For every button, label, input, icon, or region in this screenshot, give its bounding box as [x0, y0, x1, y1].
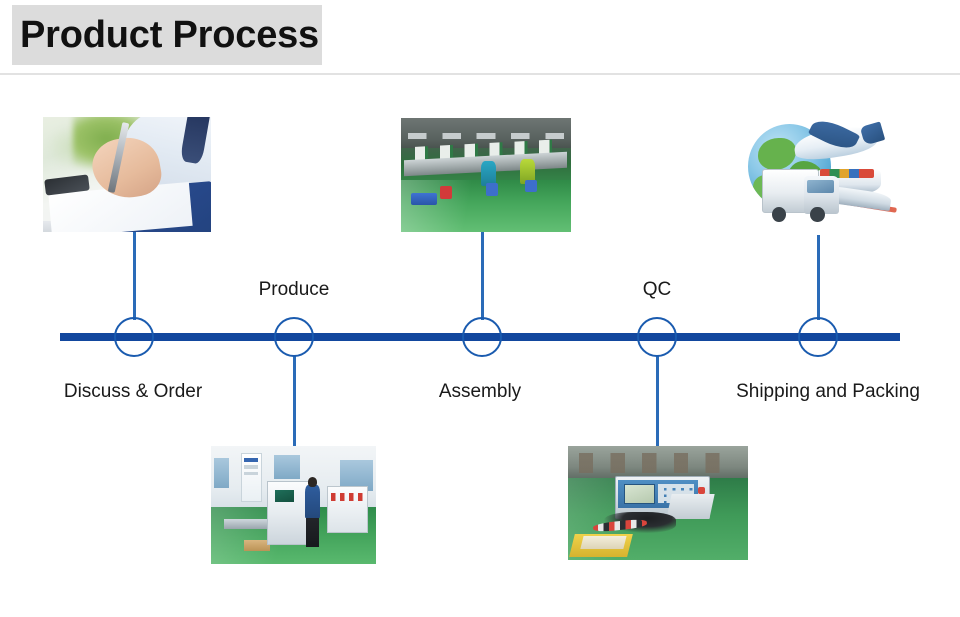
node-produce[interactable]	[274, 317, 314, 357]
photo-shipping-and-packing	[740, 117, 900, 235]
label-assembly: Assembly	[439, 380, 521, 404]
node-assembly[interactable]	[462, 317, 502, 357]
connector-qc	[656, 356, 659, 448]
photo-discuss-order-scene	[43, 117, 211, 232]
label-produce: Produce	[259, 278, 330, 302]
node-discuss-order[interactable]	[114, 317, 154, 357]
photo-discuss-order	[43, 117, 211, 232]
label-discuss-order: Discuss & Order	[64, 380, 202, 404]
photo-assembly	[401, 118, 571, 232]
photo-qc-scene	[568, 446, 748, 560]
node-qc[interactable]	[637, 317, 677, 357]
label-qc: QC	[643, 278, 672, 302]
product-process-timeline: Discuss & Order Produce	[0, 0, 960, 617]
connector-shipping-and-packing	[817, 235, 820, 320]
connector-assembly	[481, 232, 484, 320]
connector-discuss-order	[133, 232, 136, 320]
photo-assembly-scene	[401, 118, 571, 232]
node-shipping-and-packing[interactable]	[798, 317, 838, 357]
photo-shipping-and-packing-scene	[740, 117, 900, 235]
photo-produce-scene	[211, 446, 376, 564]
photo-qc	[568, 446, 748, 560]
photo-produce	[211, 446, 376, 564]
connector-produce	[293, 356, 296, 448]
label-shipping-and-packing: Shipping and Packing	[736, 380, 920, 404]
